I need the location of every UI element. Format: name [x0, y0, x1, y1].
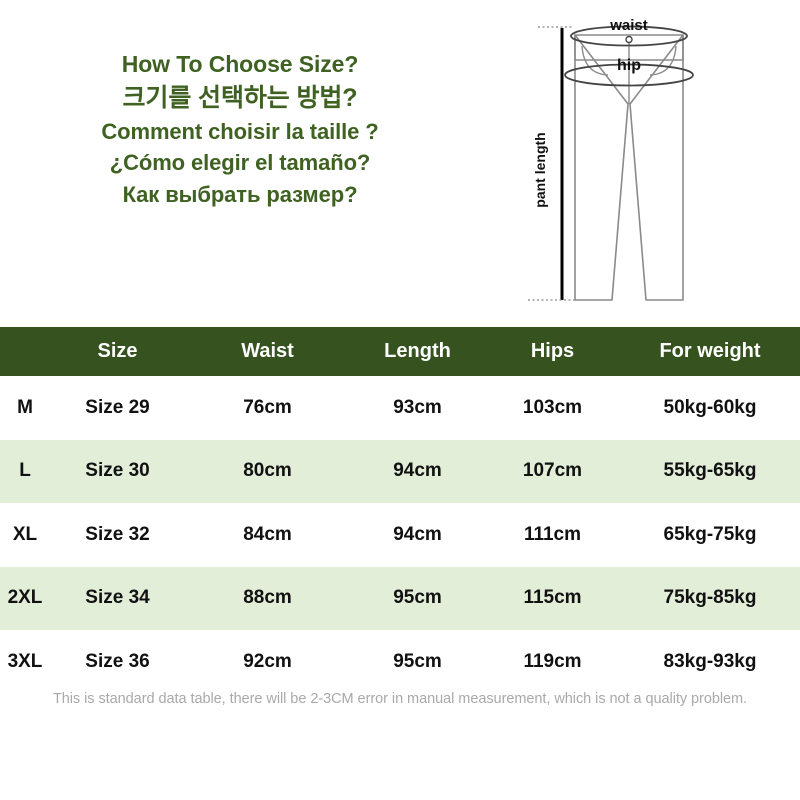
cell-label: L: [0, 440, 50, 504]
cell-label: 3XL: [0, 630, 50, 694]
headline-line-french: Comment choisir la taille ?: [0, 116, 480, 147]
cell-waist: 84cm: [185, 503, 350, 567]
headline-line-english: How To Choose Size?: [0, 48, 480, 81]
cell-weight: 75kg-85kg: [620, 567, 800, 631]
size-chart-table: Size Waist Length Hips For weight MSize …: [0, 327, 800, 694]
cell-size: Size 34: [50, 567, 185, 631]
column-header-size: Size: [50, 327, 185, 376]
cell-weight: 50kg-60kg: [620, 376, 800, 440]
headline-block: How To Choose Size? 크기를 선택하는 방법? Comment…: [0, 48, 480, 210]
cell-label: 2XL: [0, 567, 50, 631]
cell-size: Size 29: [50, 376, 185, 440]
cell-waist: 80cm: [185, 440, 350, 504]
column-header-hips: Hips: [485, 327, 620, 376]
cell-length: 95cm: [350, 630, 485, 694]
cell-size: Size 30: [50, 440, 185, 504]
waist-label: waist: [609, 17, 648, 34]
table-row: XLSize 3284cm94cm111cm65kg-75kg: [0, 503, 800, 567]
cell-weight: 83kg-93kg: [620, 630, 800, 694]
headline-line-spanish: ¿Cómo elegir el tamaño?: [0, 147, 480, 178]
pants-measurement-diagram: waist hip pant length: [520, 8, 800, 320]
column-header-waist: Waist: [185, 327, 350, 376]
headline-line-korean: 크기를 선택하는 방법?: [0, 81, 480, 117]
cell-hips: 107cm: [485, 440, 620, 504]
header-section: How To Choose Size? 크기를 선택하는 방법? Comment…: [0, 0, 800, 327]
cell-size: Size 32: [50, 503, 185, 567]
measurement-disclaimer: This is standard data table, there will …: [0, 691, 800, 707]
cell-length: 93cm: [350, 376, 485, 440]
table-row: LSize 3080cm94cm107cm55kg-65kg: [0, 440, 800, 504]
cell-waist: 88cm: [185, 567, 350, 631]
cell-length: 94cm: [350, 503, 485, 567]
cell-hips: 115cm: [485, 567, 620, 631]
cell-size: Size 36: [50, 630, 185, 694]
cell-length: 94cm: [350, 440, 485, 504]
cell-waist: 76cm: [185, 376, 350, 440]
column-header-label: [0, 327, 50, 376]
cell-length: 95cm: [350, 567, 485, 631]
table-row: 2XLSize 3488cm95cm115cm75kg-85kg: [0, 567, 800, 631]
pant-length-label: pant length: [532, 132, 548, 207]
cell-weight: 65kg-75kg: [620, 503, 800, 567]
table-row: 3XLSize 3692cm95cm119cm83kg-93kg: [0, 630, 800, 694]
cell-waist: 92cm: [185, 630, 350, 694]
column-header-length: Length: [350, 327, 485, 376]
headline-line-russian: Как выбрать размер?: [0, 179, 480, 210]
waist-button-icon: [626, 37, 632, 43]
cell-label: XL: [0, 503, 50, 567]
cell-weight: 55kg-65kg: [620, 440, 800, 504]
size-chart-body: MSize 2976cm93cm103cm50kg-60kgLSize 3080…: [0, 376, 800, 694]
cell-hips: 103cm: [485, 376, 620, 440]
table-header-row: Size Waist Length Hips For weight: [0, 327, 800, 376]
column-header-weight: For weight: [620, 327, 800, 376]
table-row: MSize 2976cm93cm103cm50kg-60kg: [0, 376, 800, 440]
cell-hips: 119cm: [485, 630, 620, 694]
cell-hips: 111cm: [485, 503, 620, 567]
cell-label: M: [0, 376, 50, 440]
hip-label: hip: [617, 57, 641, 74]
